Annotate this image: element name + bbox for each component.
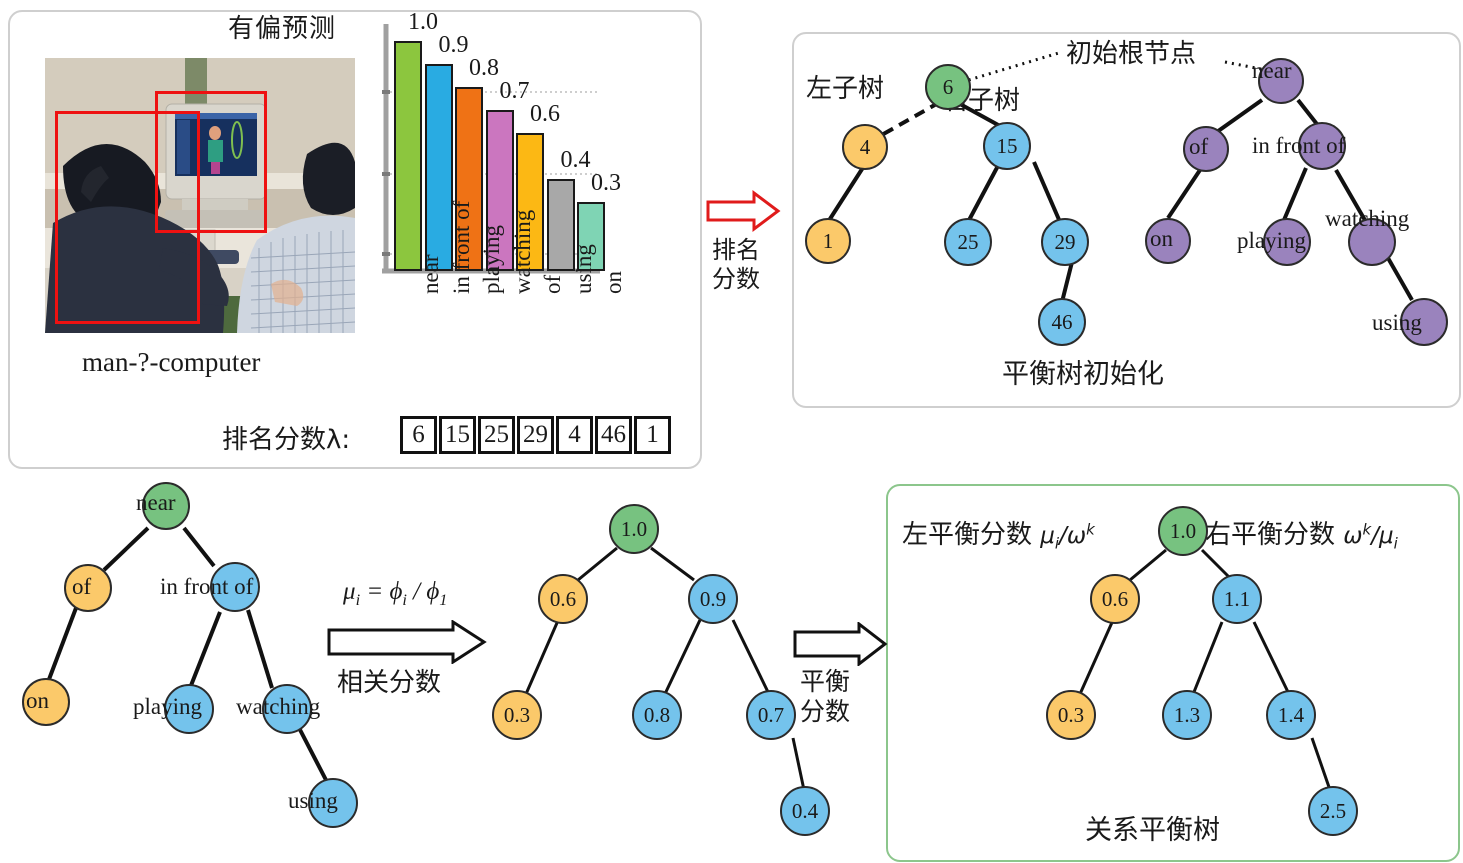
mu-formula: μi = ϕi / ϕ1 bbox=[343, 578, 447, 610]
ranking-score-box-1: 15 bbox=[439, 416, 476, 454]
node-bm-left-left[interactable]: 0.3 bbox=[492, 690, 542, 740]
rank-score-arrow bbox=[706, 190, 782, 234]
node-br-right-right-right[interactable]: 2.5 bbox=[1308, 786, 1358, 836]
initial-root-note: 初始根节点 bbox=[1066, 33, 1196, 70]
left-balance-formula: μi/ωk bbox=[1040, 523, 1094, 549]
node-bm-right-left[interactable]: 0.8 bbox=[632, 690, 682, 740]
relevance-score-arrow-label: 相关分数 bbox=[337, 662, 441, 699]
node-bm-left[interactable]: 0.6 bbox=[538, 574, 588, 624]
right-balance-score-label: 右平衡分数 ωk/μi bbox=[1205, 514, 1398, 553]
relation-balanced-tree-caption: 关系平衡树 bbox=[1085, 808, 1220, 847]
ranking-score-box-5: 46 bbox=[595, 416, 632, 454]
node-label-on: on bbox=[1150, 226, 1173, 252]
left-subtree-label: 左子树 bbox=[806, 68, 884, 105]
node-n6[interactable]: 6 bbox=[925, 64, 971, 110]
bar-category-label-near: near bbox=[418, 254, 444, 294]
node-label-bl-using: using bbox=[288, 788, 338, 814]
node-label-bl-near: near bbox=[136, 490, 176, 516]
node-br-left[interactable]: 0.6 bbox=[1090, 574, 1140, 624]
node-bm-root[interactable]: 1.0 bbox=[609, 504, 659, 554]
bar-value-label-on: 0.3 bbox=[591, 170, 621, 197]
balance-arrow-label-line2: 分数 bbox=[800, 692, 850, 728]
bar-category-label-playing: playing bbox=[479, 225, 505, 294]
bar-category-label-on: on bbox=[601, 271, 627, 294]
ranking-score-box-4: 4 bbox=[556, 416, 593, 454]
node-n25[interactable]: 25 bbox=[944, 218, 992, 266]
node-label-bl-in-front-of: in front of bbox=[160, 574, 253, 600]
photo-caption: man-?-computer bbox=[82, 347, 260, 378]
relevance-score-arrow bbox=[327, 620, 487, 664]
balanced-tree-init-caption: 平衡树初始化 bbox=[1002, 352, 1164, 391]
ranking-score-box-3: 29 bbox=[517, 416, 554, 454]
rank-arrow-label-line2: 分数 bbox=[712, 259, 760, 294]
ranking-score-label: 排名分数λ: bbox=[222, 419, 350, 456]
node-n46[interactable]: 46 bbox=[1038, 298, 1086, 346]
node-br-right[interactable]: 1.1 bbox=[1212, 574, 1262, 624]
node-n15[interactable]: 15 bbox=[983, 122, 1031, 170]
bbox-computer bbox=[155, 91, 267, 233]
right-balance-formula: ωk/μi bbox=[1343, 523, 1397, 549]
bar-category-label-using: using bbox=[571, 244, 597, 294]
node-br-left-left[interactable]: 0.3 bbox=[1046, 690, 1096, 740]
ranking-score-box-0: 6 bbox=[400, 416, 437, 454]
bar-category-label-of: of bbox=[540, 275, 566, 294]
node-label-of: of bbox=[1189, 134, 1208, 160]
bar-value-label-near: 1.0 bbox=[408, 9, 438, 36]
node-n29[interactable]: 29 bbox=[1041, 218, 1089, 266]
panel-title-biased-prediction: 有偏预测 bbox=[228, 8, 336, 45]
bar-near bbox=[394, 41, 422, 271]
node-br-right-left[interactable]: 1.3 bbox=[1162, 690, 1212, 740]
node-bm-right-right-right[interactable]: 0.4 bbox=[780, 786, 830, 836]
node-label-bl-on: on bbox=[26, 688, 49, 714]
node-label-near: near bbox=[1252, 58, 1292, 84]
left-balance-score-text: 左平衡分数 bbox=[902, 520, 1032, 550]
bar-value-label-using: 0.4 bbox=[561, 147, 591, 174]
bar-value-label-of: 0.6 bbox=[530, 101, 560, 128]
node-br-root[interactable]: 1.0 bbox=[1158, 506, 1208, 556]
node-label-using: using bbox=[1372, 310, 1422, 336]
left-balance-score-label: 左平衡分数 μi/ωk bbox=[902, 514, 1095, 553]
node-label-bl-watching: watching bbox=[236, 694, 320, 720]
bar-category-label-in-front-of: in front of bbox=[449, 201, 475, 294]
node-label-in-front-of: in front of bbox=[1252, 133, 1345, 159]
node-br-right-right[interactable]: 1.4 bbox=[1266, 690, 1316, 740]
right-balance-score-text: 右平衡分数 bbox=[1205, 520, 1335, 550]
balance-score-arrow bbox=[793, 622, 888, 666]
ranking-score-box-2: 25 bbox=[478, 416, 515, 454]
node-n4[interactable]: 4 bbox=[842, 124, 888, 170]
ranking-score-boxes: 61525294461 bbox=[400, 416, 673, 454]
node-n1[interactable]: 1 bbox=[805, 218, 851, 264]
bar-value-label-in-front-of: 0.9 bbox=[439, 32, 469, 59]
node-label-watching: watching bbox=[1325, 206, 1409, 232]
bar-category-label-watching: watching bbox=[510, 210, 536, 294]
bar-value-label-playing: 0.8 bbox=[469, 55, 499, 82]
ranking-score-box-6: 1 bbox=[634, 416, 671, 454]
bar-value-label-watching: 0.7 bbox=[500, 78, 530, 105]
node-label-playing: playing bbox=[1237, 228, 1306, 254]
node-label-bl-playing: playing bbox=[133, 694, 202, 720]
node-bm-right[interactable]: 0.9 bbox=[688, 574, 738, 624]
node-bm-right-right[interactable]: 0.7 bbox=[746, 690, 796, 740]
example-photo bbox=[45, 58, 355, 333]
node-label-bl-of: of bbox=[72, 574, 91, 600]
